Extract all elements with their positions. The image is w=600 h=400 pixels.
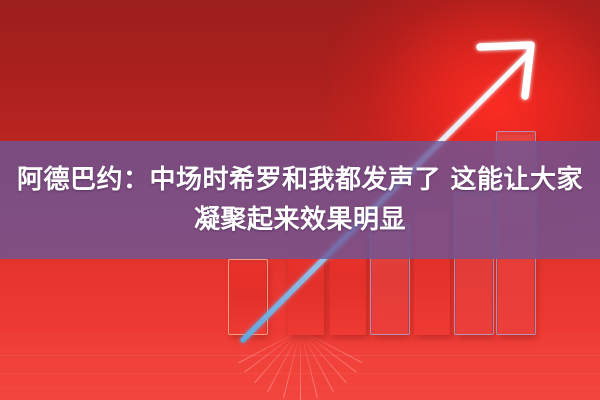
headline-line-2: 凝聚起来效果明显 [194, 203, 406, 237]
thumbnail-canvas: 阿德巴约：中场时希罗和我都发声了 这能让大家 凝聚起来效果明显 [0, 0, 600, 400]
headline-line-1: 阿德巴约：中场时希罗和我都发声了 这能让大家 [17, 163, 583, 197]
title-banner: 阿德巴约：中场时希罗和我都发声了 这能让大家 凝聚起来效果明显 [0, 141, 600, 259]
